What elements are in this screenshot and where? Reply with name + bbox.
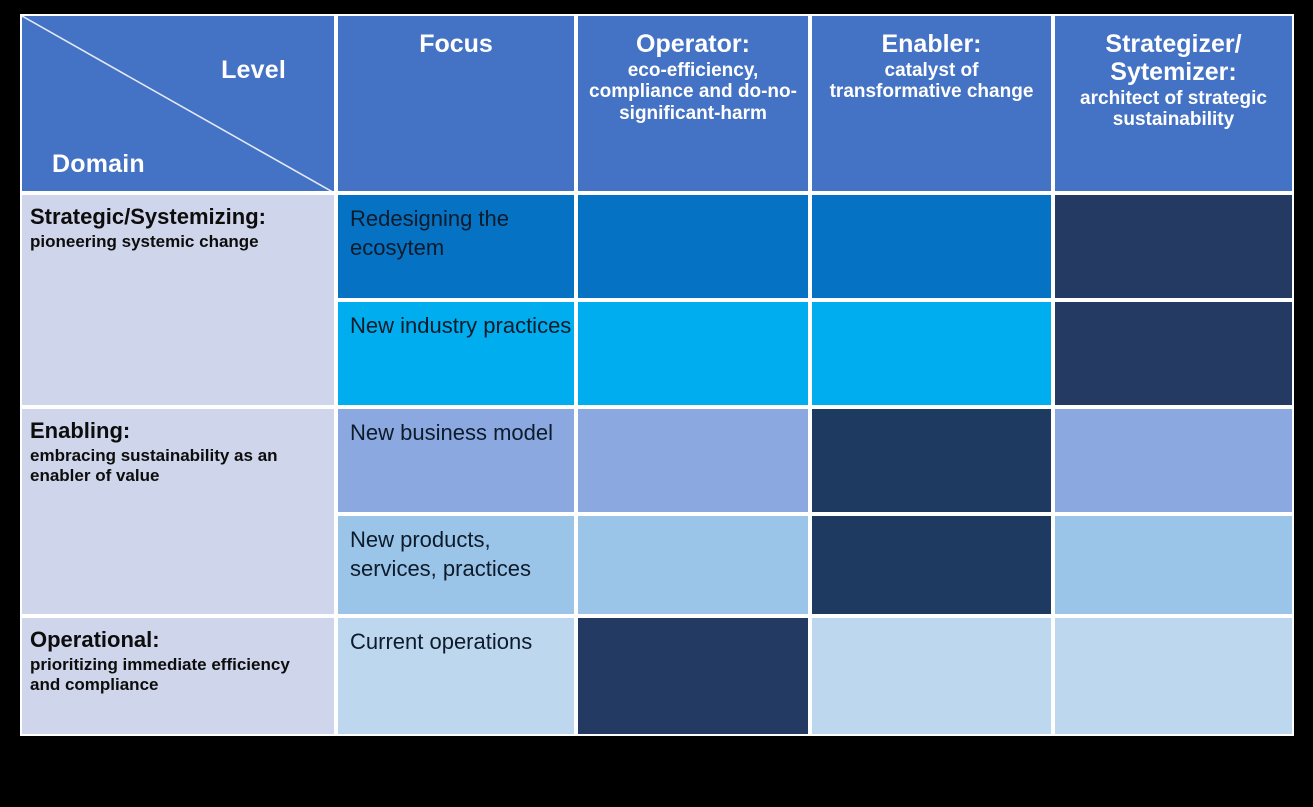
column-header-operator-title: Operator: <box>636 30 750 58</box>
column-header-focus-title: Focus <box>419 30 493 58</box>
matrix-cell <box>1053 300 1294 407</box>
column-header-strategizer-title: Strategizer/Sytemizer: <box>1105 30 1241 86</box>
matrix-cell <box>810 193 1053 300</box>
domain-row-operational-title: Operational: <box>30 628 322 653</box>
matrix-cell <box>810 407 1053 514</box>
focus-cell: Redesigning the ecosytem <box>336 193 576 300</box>
matrix-cell <box>576 193 810 300</box>
domain-row-strategic-title: Strategic/Systemizing: <box>30 205 322 230</box>
maturity-matrix: Level Domain Focus Operator: eco-efficie… <box>20 14 1294 736</box>
column-header-enabler: Enabler: catalyst of transformative chan… <box>810 14 1053 193</box>
focus-cell: New industry practices <box>336 300 576 407</box>
matrix-cell <box>810 514 1053 616</box>
matrix-cell <box>576 407 810 514</box>
matrix-cell <box>1053 616 1294 736</box>
matrix-cell <box>576 514 810 616</box>
domain-row-strategic-subtitle: pioneering systemic change <box>30 232 322 253</box>
focus-cell: Current operations <box>336 616 576 736</box>
column-header-strategizer: Strategizer/Sytemizer: architect of stra… <box>1053 14 1294 193</box>
domain-row-enabling: Enabling: embracing sustainability as an… <box>20 407 336 616</box>
column-header-enabler-title: Enabler: <box>881 30 981 58</box>
matrix-corner-header: Level Domain <box>20 14 336 193</box>
matrix-cell <box>1053 407 1294 514</box>
column-header-operator: Operator: eco-efficiency, compliance and… <box>576 14 810 193</box>
column-header-operator-subtitle: eco-efficiency, compliance and do-no-sig… <box>578 60 808 124</box>
matrix-cell <box>1053 193 1294 300</box>
column-header-focus: Focus <box>336 14 576 193</box>
matrix-cell <box>810 616 1053 736</box>
focus-cell: New products, services, practices <box>336 514 576 616</box>
domain-row-enabling-subtitle: embracing sustainability as an enabler o… <box>30 446 322 487</box>
domain-axis-label: Domain <box>52 150 145 179</box>
column-header-enabler-subtitle: catalyst of transformative change <box>812 60 1051 103</box>
matrix-cell <box>576 616 810 736</box>
domain-row-operational: Operational: prioritizing immediate effi… <box>20 616 336 736</box>
domain-row-operational-subtitle: prioritizing immediate efficiency and co… <box>30 655 322 696</box>
domain-row-strategic: Strategic/Systemizing: pioneering system… <box>20 193 336 407</box>
matrix-cell <box>810 300 1053 407</box>
matrix-cell <box>576 300 810 407</box>
column-header-strategizer-subtitle: architect of strategic sustainability <box>1055 88 1292 131</box>
matrix-cell <box>1053 514 1294 616</box>
focus-cell: New business model <box>336 407 576 514</box>
level-axis-label: Level <box>221 56 286 85</box>
domain-row-enabling-title: Enabling: <box>30 419 322 444</box>
